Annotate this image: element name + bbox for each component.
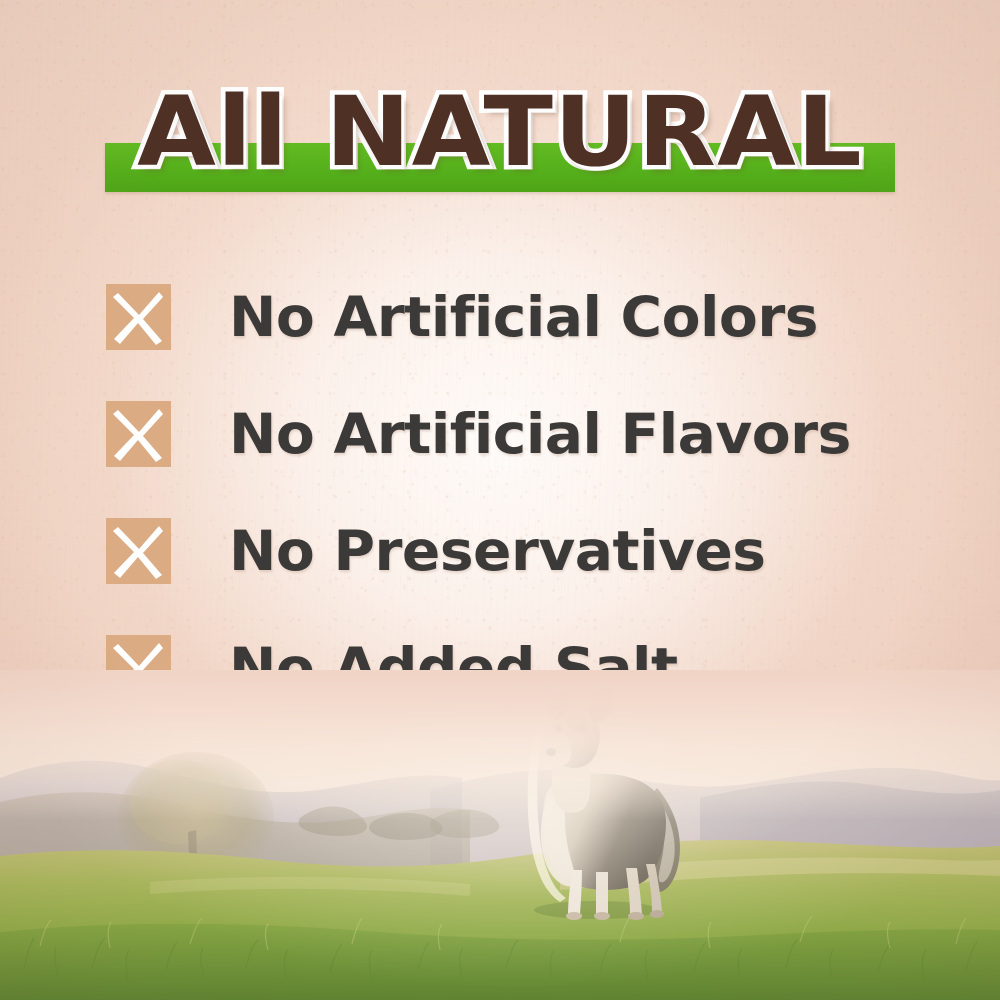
page-title: All NATURAL — [81, 78, 918, 186]
x-mark-icon — [106, 401, 171, 467]
list-item-label: No Artificial Colors — [229, 287, 818, 347]
list-item: No Artificial Flavors — [106, 375, 936, 492]
all-natural-feature-poster: All NATURAL No Artificial Colors No Arti… — [0, 0, 1000, 1000]
dog-landscape-photo — [0, 670, 1000, 1000]
list-item: No Preservatives — [106, 492, 936, 609]
list-item-label: No Preservatives — [229, 521, 766, 581]
feature-list: No Artificial Colors No Artificial Flavo… — [106, 258, 936, 726]
x-mark-icon — [106, 284, 171, 350]
headline-banner: All NATURAL — [105, 78, 895, 186]
list-item-label: No Artificial Flavors — [229, 404, 851, 464]
list-item: No Artificial Colors — [106, 258, 936, 375]
x-mark-icon — [106, 518, 171, 584]
